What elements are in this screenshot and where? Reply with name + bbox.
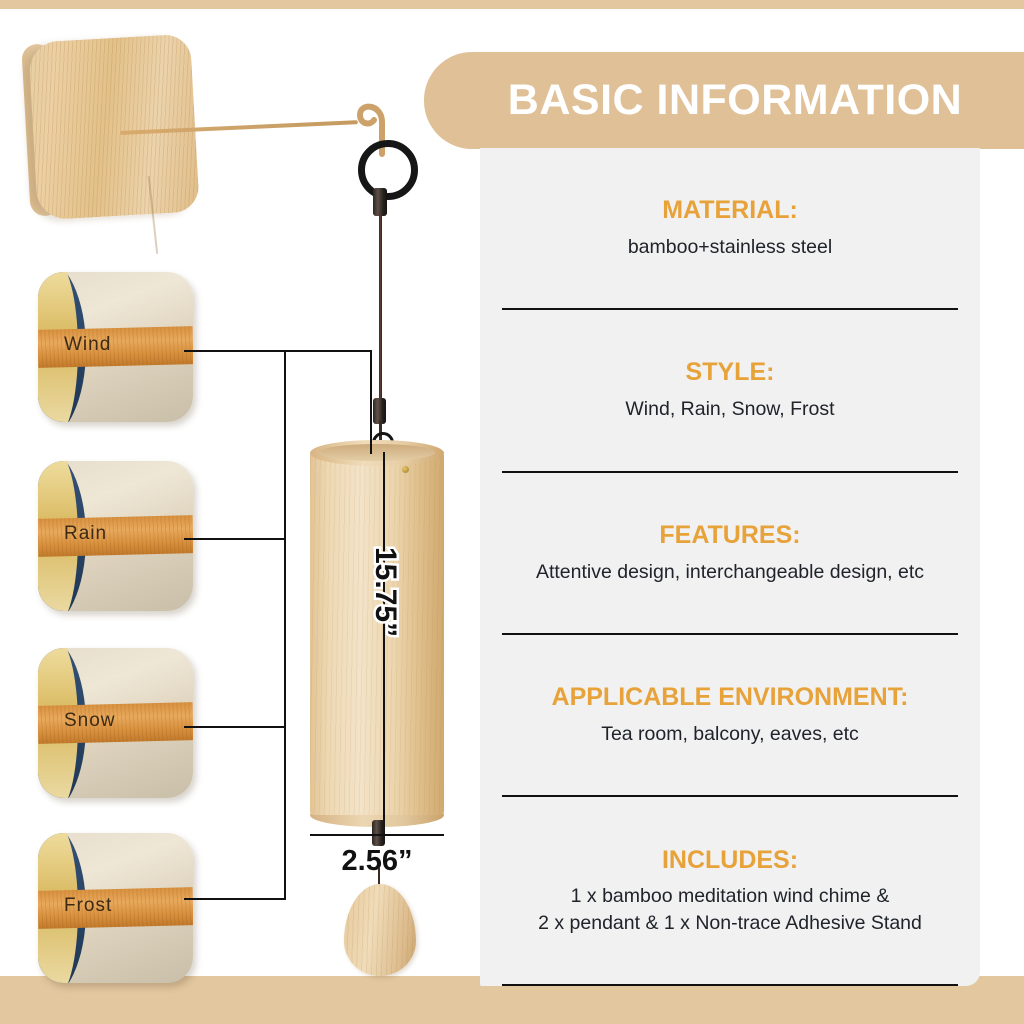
hanging-cord [379,213,382,408]
spec-value: bamboo+stainless steel [628,234,832,260]
spec-value: Wind, Rain, Snow, Frost [625,396,834,422]
swatch-frost[interactable]: Frost [38,833,193,983]
wall-plate-seam [148,176,158,254]
spec-title: APPLICABLE ENVIRONMENT: [552,683,909,712]
teardrop-bamboo-pendant [344,884,416,976]
connector-line-wind [184,350,286,352]
spec-title: MATERIAL: [662,196,798,225]
spec-style: STYLE: Wind, Rain, Snow, Frost [496,310,964,470]
spec-material: MATERIAL: bamboo+stainless steel [496,148,964,308]
bamboo-wall-mount-plate [28,34,200,221]
swatch-label: Snow [64,710,116,732]
width-dimension-label: 2.56” [310,845,444,878]
spec-value: 1 x bamboo meditation wind chime & 2 x p… [538,883,922,936]
spec-applicable-environment: APPLICABLE ENVIRONMENT: Tea room, balcon… [496,635,964,795]
swatch-label: Rain [64,523,107,545]
tube-top-inner-rim [319,444,435,461]
width-measure-line [310,834,444,836]
clapper-barrel [372,820,385,846]
swatch-snow[interactable]: Snow [38,648,193,798]
height-measure-line [383,452,385,824]
swatch-bamboo-slat [38,326,193,368]
spec-features: FEATURES: Attentive design, interchangea… [496,473,964,633]
page-title: BASIC INFORMATION [486,76,962,125]
swatch-wind[interactable]: Wind [38,272,193,422]
swatch-label: Wind [64,334,111,356]
section-divider [502,984,958,986]
spec-title: FEATURES: [659,521,800,550]
spec-includes: INCLUDES: 1 x bamboo meditation wind chi… [496,797,964,984]
connector-spine [284,350,286,900]
o-ring-icon [358,140,418,200]
swatch-bamboo-slat [38,515,193,557]
swatch-label: Frost [64,895,112,917]
spec-title: STYLE: [686,358,775,387]
spec-title: INCLUDES: [662,846,798,875]
top-barrel-connector [373,188,387,216]
spec-value: Attentive design, interchangeable design… [536,559,924,585]
connector-line-to-chime [284,350,372,352]
connector-line-frost [184,898,286,900]
swatch-rain[interactable]: Rain [38,461,193,611]
infographic-canvas: 15.75” 2.56” Wind Rain Snow Frost [0,0,1024,1024]
connector-line-snow [184,726,286,728]
connector-line-rain [184,538,286,540]
header-banner: BASIC INFORMATION [424,52,1024,149]
spec-value: Tea room, balcony, eaves, etc [601,721,859,747]
swatch-bamboo-slat [38,887,193,929]
brass-screw [402,466,409,473]
connector-drop-to-chime [370,350,372,454]
height-dimension-label: 15.75” [368,547,402,607]
info-panel: MATERIAL: bamboo+stainless steel STYLE: … [480,148,980,986]
